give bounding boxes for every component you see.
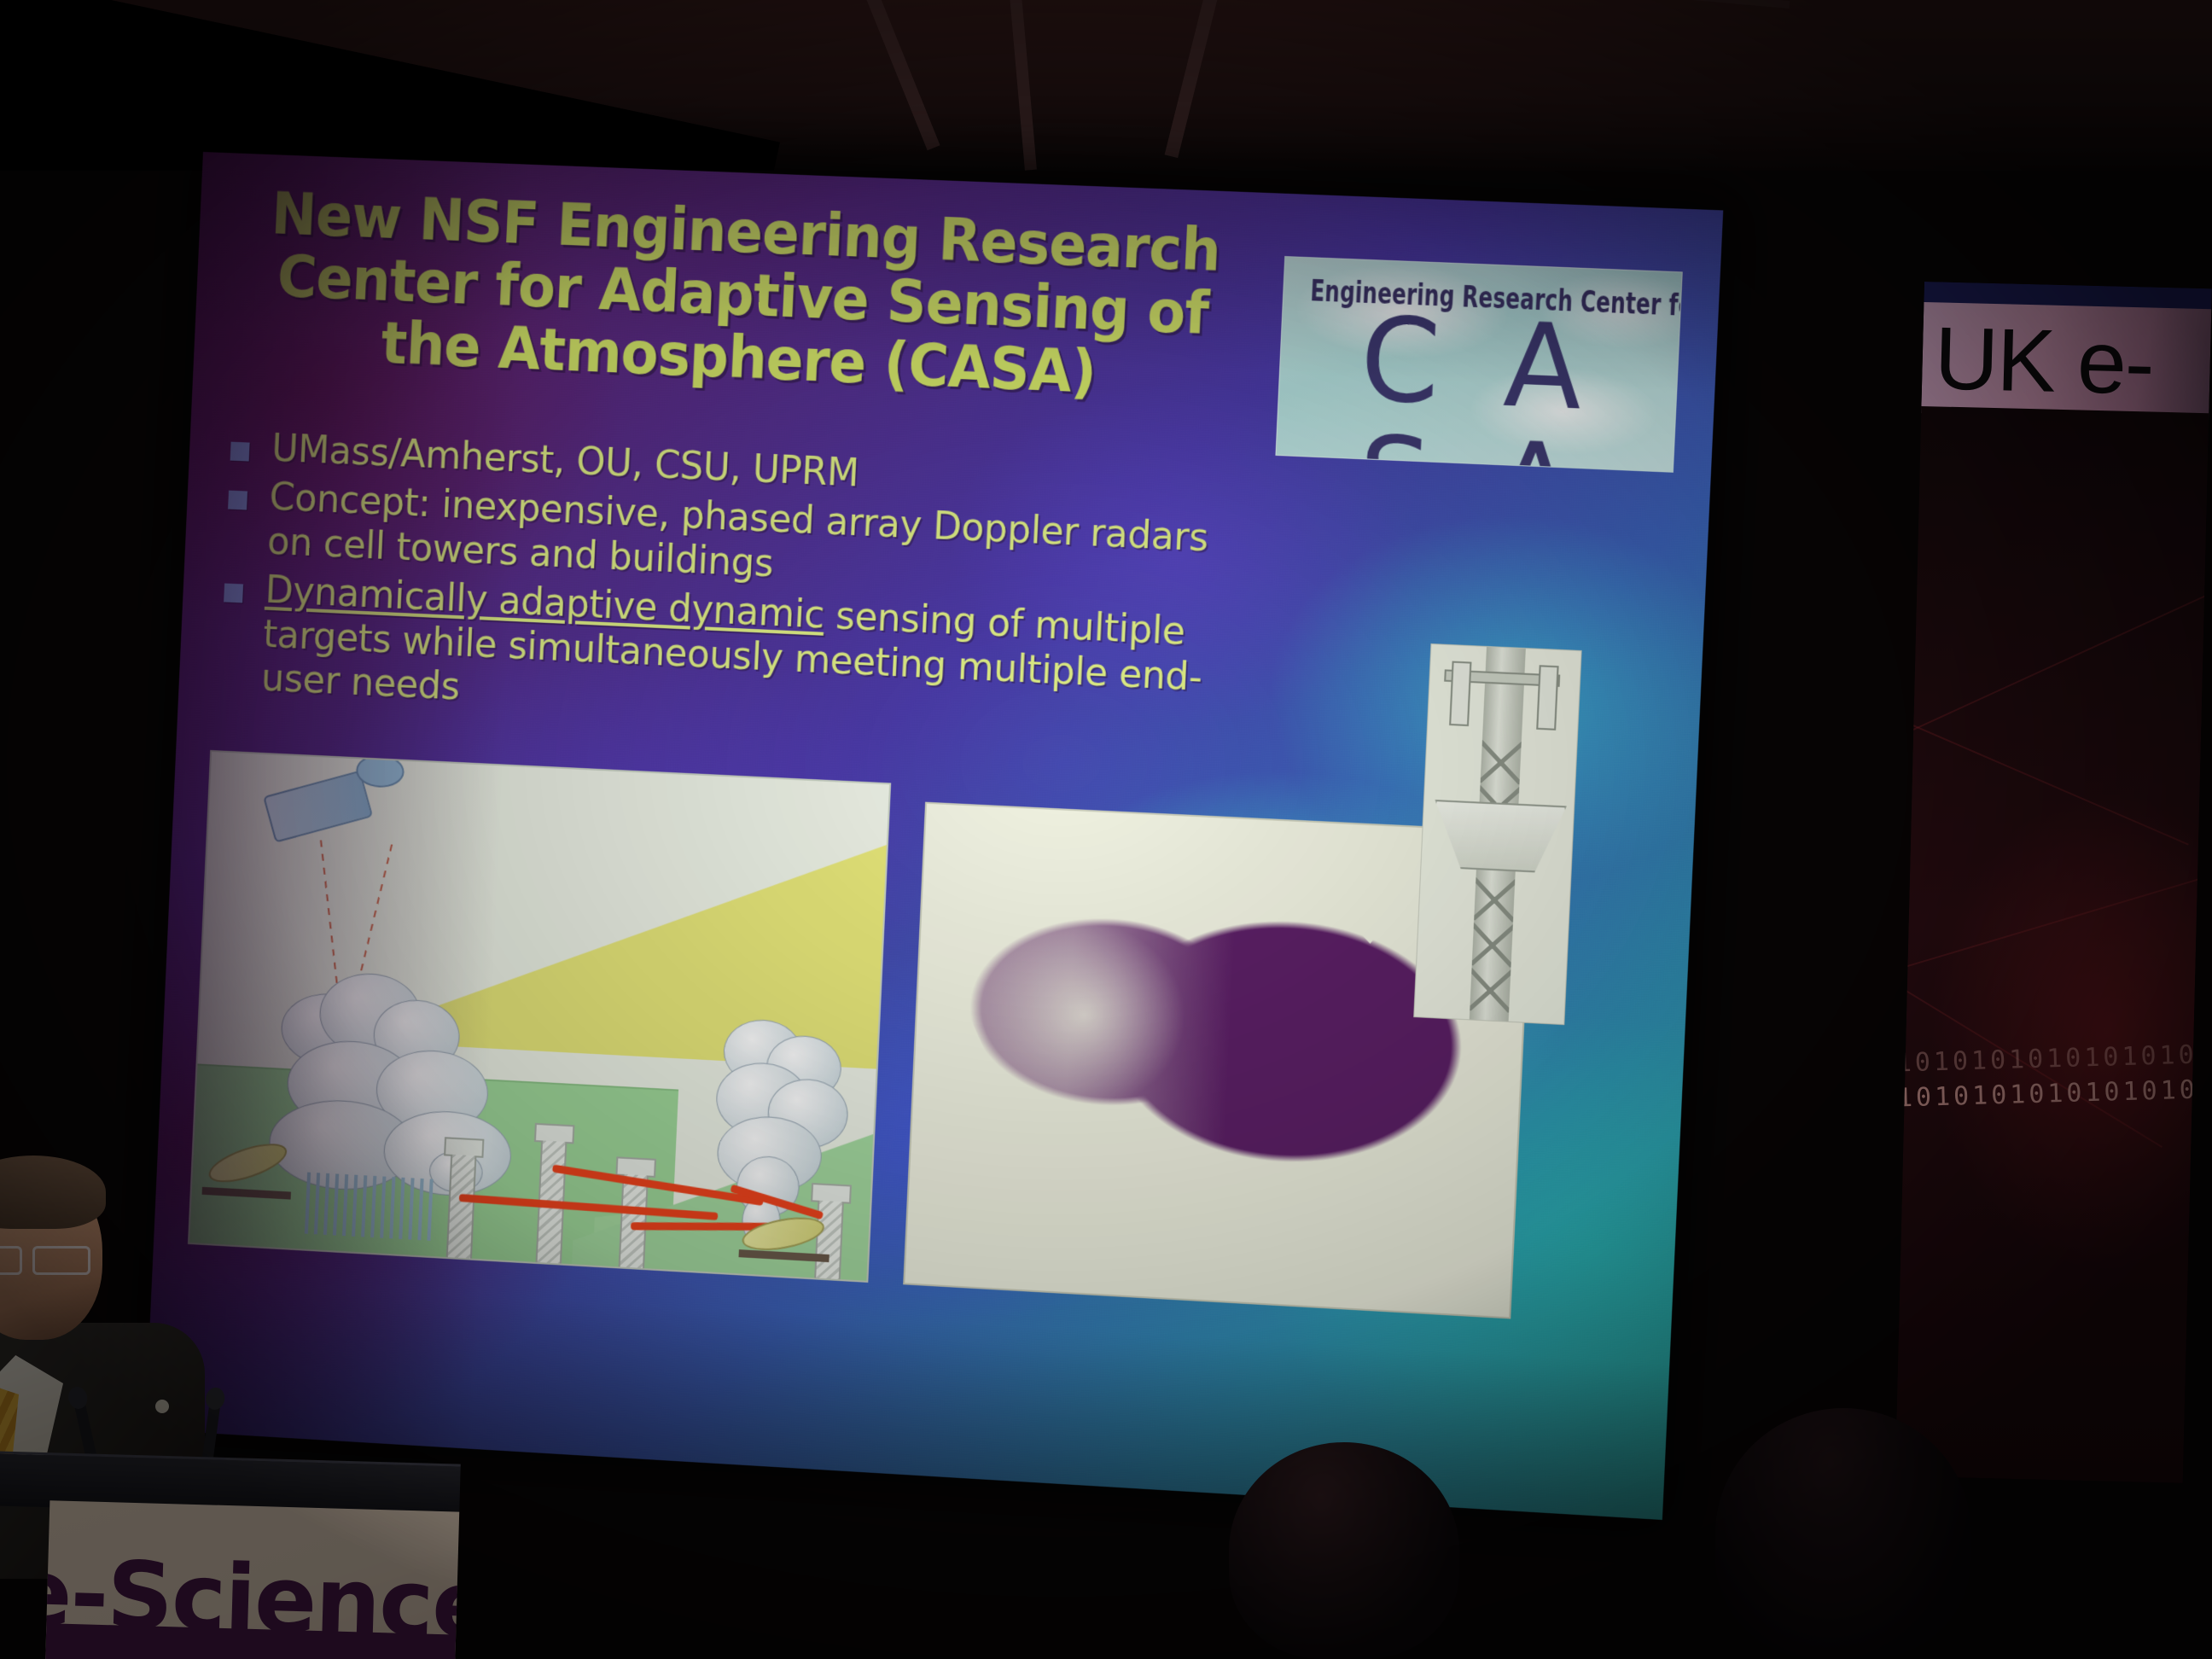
tower-brace — [1472, 920, 1513, 967]
banner-binary-text: 1010101010101010101010 10101010101010101… — [1895, 1037, 2212, 1116]
ceiling-shadow — [0, 0, 780, 171]
ceiling — [0, 0, 2212, 171]
tower-brace — [1474, 875, 1515, 922]
banner-gridline — [1895, 873, 2212, 972]
casa-logo-acronym: C A S A — [1292, 298, 1660, 473]
presenter-lapel-pin — [155, 1400, 169, 1413]
slide-title: New NSF Engineering Research Center for … — [228, 183, 1260, 411]
audience-head-right — [1715, 1408, 1971, 1659]
ceiling-beam-1 — [854, 0, 940, 150]
ceiling-beam-horizontal — [599, 0, 1790, 9]
tower-brace — [1470, 965, 1511, 1012]
cell-tower — [446, 1155, 477, 1260]
podium: e-Science — [0, 1451, 461, 1659]
ceiling-beam-2 — [1007, 0, 1037, 171]
banner-headline: UK e- — [1934, 314, 2154, 408]
podium-sign: e-Science — [45, 1500, 459, 1659]
conference-room: New NSF Engineering Research Center for … — [0, 0, 2212, 1659]
slide-content: New NSF Engineering Research Center for … — [145, 152, 1723, 1520]
cell-tower-photo — [1413, 643, 1581, 1025]
slide-bullet-list: UMass/Amherst, OU, CSU, UPRM Concept: in… — [219, 425, 1265, 753]
presenter-hair — [0, 1155, 106, 1229]
eyeglasses-icon — [0, 1246, 109, 1272]
tower-platform — [1432, 800, 1567, 874]
tower-antenna — [1449, 661, 1471, 726]
banner-gridline — [1896, 595, 2208, 738]
bullet-square-icon — [224, 584, 243, 603]
banner-dark-panel — [1895, 406, 2209, 1483]
mountain-west-gap — [979, 917, 1190, 1114]
concept-diagram-image — [188, 750, 891, 1283]
projection-screen: New NSF Engineering Research Center for … — [145, 152, 1723, 1520]
casa-logo: Engineering Research Center for C A S A — [1275, 256, 1682, 473]
tower-brace — [1481, 737, 1522, 784]
audience-head-left — [1229, 1442, 1459, 1659]
bullet-square-icon — [228, 491, 247, 510]
rain-shaft — [305, 1173, 436, 1241]
ceiling-beam-3 — [1165, 0, 1225, 158]
uk-escience-banner: UK e- 1010101010101010101010 10101010101… — [1895, 282, 2212, 1483]
bullet-square-icon — [230, 442, 250, 462]
tower-antenna — [1536, 665, 1558, 731]
banner-gridline — [1895, 708, 2189, 846]
